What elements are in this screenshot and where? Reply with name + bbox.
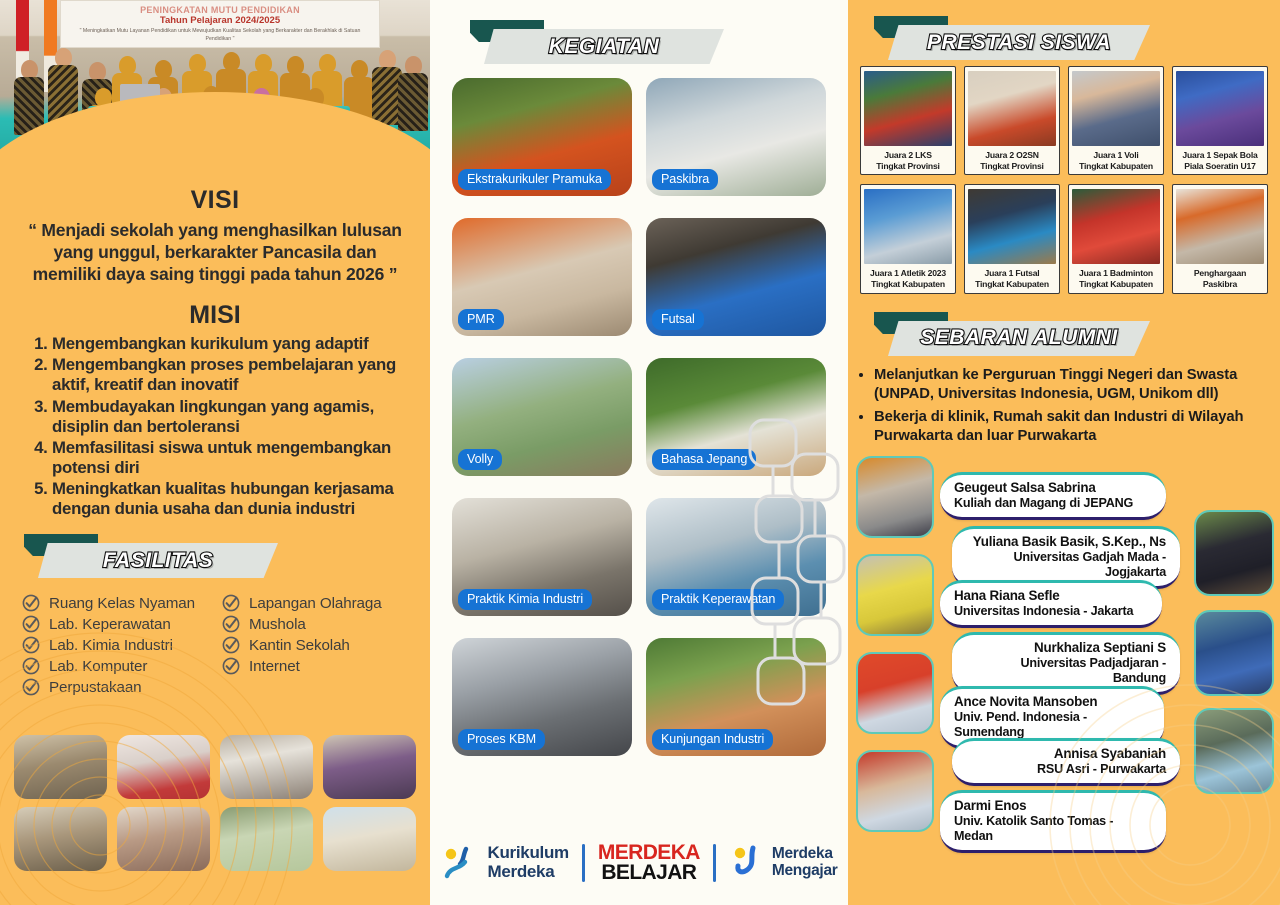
fasilitas-item: Mushola: [222, 615, 412, 633]
prestasi-line-2: Tingkat Kabupaten: [1079, 279, 1153, 289]
alumni-photo: [1194, 610, 1274, 696]
fasilitas-label: Perpustakaan: [49, 679, 142, 696]
kegiatan-caption: Bahasa Jepang: [652, 449, 756, 470]
prestasi-photo: [1176, 189, 1264, 264]
prestasi-caption: Juara 1 Sepak BolaPiala Soeratin U17: [1182, 150, 1257, 171]
check-circle-icon: [22, 678, 40, 696]
kegiatan-caption: Futsal: [652, 309, 704, 330]
kurikulum-merdeka-mark: [440, 843, 480, 883]
alumni-institution: Univ. Pend. Indonesia - Sumendang: [954, 710, 1150, 740]
right-column: PRESTASI SISWA Juara 2 LKSTingkat Provin…: [848, 0, 1280, 905]
prestasi-line-1: Juara 1 Futsal: [984, 268, 1039, 278]
prestasi-photo: [968, 71, 1056, 146]
prestasi-heading: PRESTASI SISWA: [927, 31, 1111, 55]
alumni-name: Annisa Syabaniah: [966, 746, 1166, 762]
footer-logos: Kurikulum Merdeka MERDEKA BELAJAR Merdek…: [430, 843, 848, 883]
prestasi-card: Juara 1 BadmintonTingkat Kabupaten: [1068, 184, 1164, 293]
sebaran-alumni-ribbon: SEBARAN ALUMNI: [866, 312, 1280, 356]
logo-line-2: Merdeka: [487, 863, 568, 881]
alumni-bullet: Melanjutkan ke Perguruan Tinggi Negeri d…: [874, 366, 1258, 403]
fasilitas-label: Mushola: [249, 616, 306, 633]
prestasi-photo: [864, 189, 952, 264]
fasilitas-label: Lab. Kimia Industri: [49, 637, 173, 654]
fasilitas-label: Lab. Keperawatan: [49, 616, 171, 633]
prestasi-line-2: Tingkat Kabupaten: [975, 279, 1049, 289]
ribbon-plate: KEGIATAN: [484, 29, 724, 64]
prestasi-line-2: Tingkat Provinsi: [980, 161, 1044, 171]
kegiatan-caption: Volly: [458, 449, 502, 470]
kurikulum-merdeka-logo: Kurikulum Merdeka: [440, 843, 568, 883]
fasilitas-item: Perpustakaan: [22, 678, 212, 696]
ribbon-plate: SEBARAN ALUMNI: [888, 321, 1150, 356]
prestasi-caption: Juara 1 FutsalTingkat Kabupaten: [975, 268, 1049, 289]
kegiatan-card: Ekstrakurikuler Pramuka: [452, 78, 632, 196]
alumni-name: Geugeut Salsa Sabrina: [954, 480, 1152, 496]
facility-photo-chemistry-lab: [220, 735, 313, 799]
prestasi-line-1: Juara 1 Voli: [1093, 150, 1138, 160]
fasilitas-ribbon: FASILITAS: [16, 534, 430, 578]
alumni-card: Darmi Enos Univ. Katolik Santo Tomas - M…: [940, 790, 1166, 853]
person: [398, 56, 428, 131]
alumni-name: Darmi Enos: [954, 798, 1152, 814]
logo-divider: [582, 844, 585, 882]
prestasi-caption: PenghargaanPaskibra: [1194, 268, 1246, 289]
alumni-name: Ance Novita Mansoben: [954, 694, 1150, 710]
prestasi-line-1: Juara 2 LKS: [884, 150, 931, 160]
kegiatan-card: Kunjungan Industri: [646, 638, 826, 756]
kegiatan-card: Futsal: [646, 218, 826, 336]
prestasi-line-2: Piala Soeratin U17: [1184, 161, 1255, 171]
check-circle-icon: [22, 615, 40, 633]
check-circle-icon: [222, 615, 240, 633]
prestasi-card: Juara 2 LKSTingkat Provinsi: [860, 66, 956, 175]
prestasi-card: PenghargaanPaskibra: [1172, 184, 1268, 293]
merdeka-mengajar-logo: Merdeka Mengajar: [729, 844, 838, 882]
prestasi-line-1: Juara 1 Atletik 2023: [870, 268, 946, 278]
alumni-cards-zone: Geugeut Salsa Sabrina Kuliah dan Magang …: [848, 452, 1280, 822]
kegiatan-caption: Praktik Kimia Industri: [458, 589, 592, 610]
alumni-bullet: Bekerja di klinik, Rumah sakit dan Indus…: [874, 408, 1258, 445]
facility-photo-hall: [323, 735, 416, 799]
check-circle-icon: [22, 636, 40, 654]
kegiatan-grid: Ekstrakurikuler Pramuka Paskibra PMR Fut…: [430, 64, 848, 756]
kegiatan-card: Bahasa Jepang: [646, 358, 826, 476]
sebaran-alumni-heading: SEBARAN ALUMNI: [920, 326, 1118, 350]
facility-photo-library: [14, 807, 107, 871]
kurikulum-merdeka-text: Kurikulum Merdeka: [487, 844, 568, 881]
prestasi-caption: Juara 2 LKSTingkat Provinsi: [876, 150, 940, 171]
prestasi-caption: Juara 2 O2SNTingkat Provinsi: [980, 150, 1044, 171]
alumni-name: Hana Riana Sefle: [954, 588, 1148, 604]
person: [14, 60, 44, 135]
fasilitas-label: Kantin Sekolah: [249, 637, 350, 654]
fasilitas-item: Lab. Keperawatan: [22, 615, 212, 633]
facility-photo-mushola: [117, 807, 210, 871]
alumni-institution: Universitas Padjadjaran - Bandung: [966, 656, 1166, 686]
facility-photo-classroom: [14, 735, 107, 799]
check-circle-icon: [222, 594, 240, 612]
kegiatan-card: Praktik Kimia Industri: [452, 498, 632, 616]
logo-divider: [713, 844, 716, 882]
alumni-name: Nurkhaliza Septiani S: [966, 640, 1166, 656]
facility-photo-grid: [0, 735, 430, 871]
alumni-institution: Universitas Indonesia - Jakarta: [954, 604, 1148, 619]
school-profile-poster: PENINGKATAN MUTU PENDIDIKAN Tahun Pelaja…: [0, 0, 1280, 905]
prestasi-card: Juara 1 VoliTingkat Kabupaten: [1068, 66, 1164, 175]
alumni-card: Geugeut Salsa Sabrina Kuliah dan Magang …: [940, 472, 1166, 520]
prestasi-grid: Juara 2 LKSTingkat Provinsi Juara 2 O2SN…: [848, 60, 1280, 294]
misi-list: Mengembangkan kurikulum yang adaptif Men…: [18, 334, 412, 519]
misi-item: Memfasilitasi siswa untuk mengembangkan …: [52, 438, 408, 478]
kegiatan-card: PMR: [452, 218, 632, 336]
prestasi-card: Juara 2 O2SNTingkat Provinsi: [964, 66, 1060, 175]
kegiatan-ribbon: KEGIATAN: [462, 20, 848, 64]
alumni-photo: [856, 554, 934, 636]
alumni-photo: [856, 652, 934, 734]
prestasi-caption: Juara 1 BadmintonTingkat Kabupaten: [1079, 268, 1153, 289]
kegiatan-card: Proses KBM: [452, 638, 632, 756]
fasilitas-label: Lapangan Olahraga: [249, 595, 382, 612]
kegiatan-caption: Paskibra: [652, 169, 718, 190]
fasilitas-item: Internet: [222, 657, 412, 675]
check-circle-icon: [222, 657, 240, 675]
visi-misi-section: VISI “ Menjadi sekolah yang menghasilkan…: [0, 186, 430, 521]
kegiatan-heading: KEGIATAN: [549, 35, 660, 59]
alumni-photo: [1194, 510, 1274, 596]
prestasi-card: Juara 1 Sepak BolaPiala Soeratin U17: [1172, 66, 1268, 175]
facility-photo-sports-field: [220, 807, 313, 871]
alumni-institution: Kuliah dan Magang di JEPANG: [954, 496, 1152, 511]
fasilitas-label: Ruang Kelas Nyaman: [49, 595, 195, 612]
misi-item: Meningkatkan kualitas hubungan kerjasama…: [52, 479, 408, 519]
kegiatan-caption: Kunjungan Industri: [652, 729, 773, 750]
prestasi-line-2: Paskibra: [1203, 279, 1237, 289]
banner-line-1: PENINGKATAN MUTU PENDIDIKAN: [140, 5, 300, 15]
kegiatan-caption: Ekstrakurikuler Pramuka: [458, 169, 611, 190]
middle-column: KEGIATAN Ekstrakurikuler Pramuka Paskibr…: [430, 0, 848, 905]
ribbon-plate: PRESTASI SISWA: [888, 25, 1150, 60]
left-column: PENINGKATAN MUTU PENDIDIKAN Tahun Pelaja…: [0, 0, 430, 905]
prestasi-photo: [1072, 71, 1160, 146]
alumni-institution: RSU Asri - Purwakarta: [966, 762, 1166, 777]
alumni-institution: Universitas Gadjah Mada - Jogjakarta: [966, 550, 1166, 580]
logo-line-2: Mengajar: [772, 863, 838, 880]
check-circle-icon: [222, 636, 240, 654]
kegiatan-card: Paskibra: [646, 78, 826, 196]
prestasi-line-2: Tingkat Provinsi: [876, 161, 940, 171]
alumni-photo: [856, 750, 934, 832]
misi-item: Mengembangkan kurikulum yang adaptif: [52, 334, 408, 354]
logo-line-1: Kurikulum: [487, 844, 568, 862]
alumni-institution: Univ. Katolik Santo Tomas - Medan: [954, 814, 1152, 844]
fasilitas-item: Lab. Kimia Industri: [22, 636, 212, 654]
prestasi-card: Juara 1 FutsalTingkat Kabupaten: [964, 184, 1060, 293]
merdeka-mengajar-mark: [729, 844, 765, 882]
alumni-card: Annisa Syabaniah RSU Asri - Purwakarta: [952, 738, 1180, 786]
kegiatan-caption: Praktik Keperawatan: [652, 589, 784, 610]
prestasi-caption: Juara 1 VoliTingkat Kabupaten: [1079, 150, 1153, 171]
fasilitas-label: Internet: [249, 658, 300, 675]
prestasi-photo: [1072, 189, 1160, 264]
facility-photo-canteen: [323, 807, 416, 871]
alumni-bullet-list: Melanjutkan ke Perguruan Tinggi Negeri d…: [848, 356, 1280, 446]
prestasi-caption: Juara 1 Atletik 2023Tingkat Kabupaten: [870, 268, 946, 289]
prestasi-line-1: Juara 1 Badminton: [1079, 268, 1153, 278]
alumni-photo: [1194, 708, 1274, 794]
fasilitas-item: Lab. Komputer: [22, 657, 212, 675]
prestasi-line-2: Tingkat Kabupaten: [1079, 161, 1153, 171]
alumni-name: Yuliana Basik Basik, S.Kep., Ns: [966, 534, 1166, 550]
prestasi-photo: [1176, 71, 1264, 146]
logo-line-1: Merdeka: [772, 846, 838, 863]
fasilitas-heading: FASILITAS: [103, 549, 213, 573]
visi-text: “ Menjadi sekolah yang menghasilkan lulu…: [18, 219, 412, 285]
banner-line-2: Tahun Pelajaran 2024/2025: [160, 15, 280, 26]
facility-photo-nursing-lab: [117, 735, 210, 799]
ribbon-plate: FASILITAS: [38, 543, 278, 578]
logo-line-2: BELAJAR: [601, 863, 696, 883]
prestasi-card: Juara 1 Atletik 2023Tingkat Kabupaten: [860, 184, 956, 293]
prestasi-line-1: Juara 1 Sepak Bola: [1182, 150, 1257, 160]
fasilitas-item: Lapangan Olahraga: [222, 594, 412, 612]
kegiatan-card: Praktik Keperawatan: [646, 498, 826, 616]
check-circle-icon: [22, 657, 40, 675]
kegiatan-caption: PMR: [458, 309, 504, 330]
logo-line-1: MERDEKA: [598, 843, 700, 863]
fasilitas-section: FASILITAS Ruang Kelas Nyaman Lapangan Ol…: [0, 534, 430, 696]
prestasi-photo: [864, 71, 952, 146]
kegiatan-card: Volly: [452, 358, 632, 476]
fasilitas-item: Kantin Sekolah: [222, 636, 412, 654]
misi-item: Membudayakan lingkungan yang agamis, dis…: [52, 397, 408, 437]
prestasi-ribbon: PRESTASI SISWA: [866, 16, 1280, 60]
check-circle-icon: [22, 594, 40, 612]
misi-item: Mengembangkan proses pembelajaran yang a…: [52, 355, 408, 395]
alumni-card: Hana Riana Sefle Universitas Indonesia -…: [940, 580, 1162, 628]
header-group-photo: PENINGKATAN MUTU PENDIDIKAN Tahun Pelaja…: [0, 0, 430, 160]
fasilitas-grid: Ruang Kelas Nyaman Lapangan Olahraga Lab…: [0, 584, 430, 696]
visi-heading: VISI: [18, 186, 412, 215]
prestasi-photo: [968, 189, 1056, 264]
prestasi-line-2: Tingkat Kabupaten: [871, 279, 945, 289]
misi-heading: MISI: [18, 301, 412, 330]
merdeka-mengajar-text: Merdeka Mengajar: [772, 846, 838, 879]
prestasi-line-1: Penghargaan: [1194, 268, 1246, 278]
kegiatan-caption: Proses KBM: [458, 729, 545, 750]
fasilitas-label: Lab. Komputer: [49, 658, 147, 675]
merdeka-belajar-logo: MERDEKA BELAJAR: [598, 843, 700, 883]
alumni-photo: [856, 456, 934, 538]
prestasi-line-1: Juara 2 O2SN: [985, 150, 1039, 160]
fasilitas-item: Ruang Kelas Nyaman: [22, 594, 212, 612]
